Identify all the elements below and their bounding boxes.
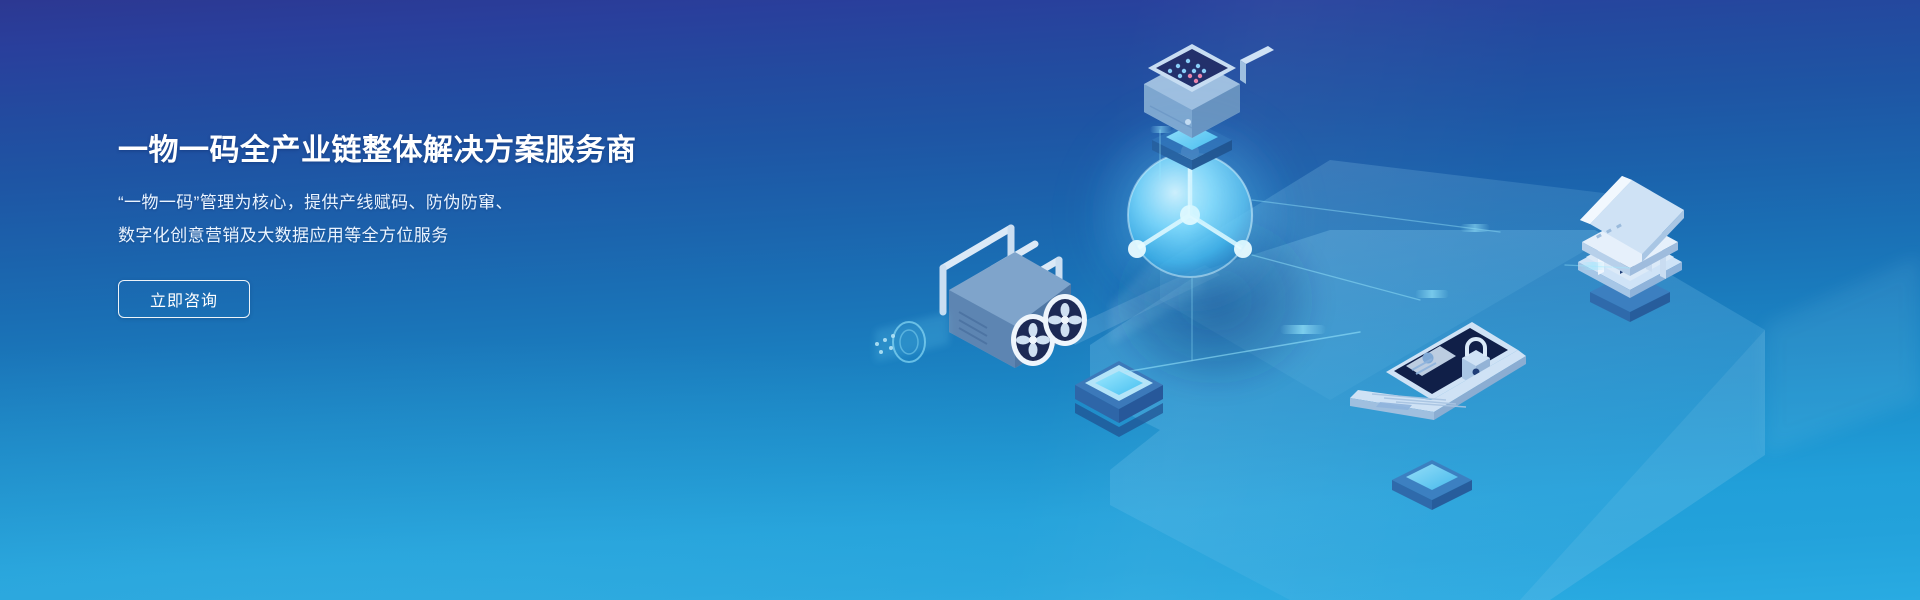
hero-copy: 一物一码全产业链整体解决方案服务商 “一物一码”管理为核心，提供产线赋码、防伪防… (118, 132, 838, 318)
hero-subtext-line-2: 数字化创意营销及大数据应用等全方位服务 (118, 219, 838, 252)
hero-subtext: “一物一码”管理为核心，提供产线赋码、防伪防窜、 数字化创意营销及大数据应用等全… (118, 186, 838, 252)
fan-right (1043, 294, 1087, 346)
consult-now-button[interactable]: 立即咨询 (118, 280, 250, 318)
hero-subtext-line-1: “一物一码”管理为核心，提供产线赋码、防伪防窜、 (118, 186, 838, 219)
sphere-bloom (1060, 85, 1320, 345)
hero-illustration (860, 0, 1920, 600)
server-rack (875, 228, 1087, 368)
hero-banner: 一物一码全产业链整体解决方案服务商 “一物一码”管理为核心，提供产线赋码、防伪防… (0, 0, 1920, 600)
page-title: 一物一码全产业链整体解决方案服务商 (118, 132, 838, 170)
data-stream (875, 312, 949, 362)
